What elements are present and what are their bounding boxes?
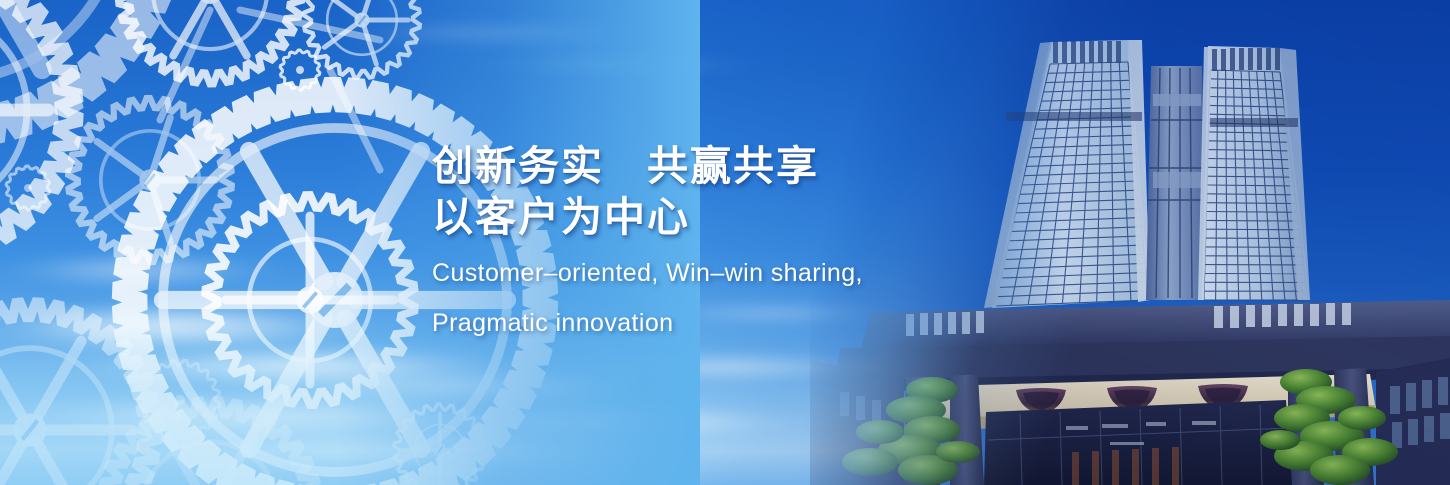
subline-line-1: Customer–oriented, Win–win sharing,	[432, 253, 1052, 293]
headline-line-1: 创新务实 共赢共享	[432, 141, 1052, 192]
subline-line-2: Pragmatic innovation	[432, 303, 1052, 343]
corporate-banner: 创新务实 共赢共享 以客户为中心 Customer–oriented, Win–…	[0, 0, 1450, 485]
banner-copy: 创新务实 共赢共享 以客户为中心 Customer–oriented, Win–…	[432, 141, 1052, 343]
headline-line-2: 以客户为中心	[432, 192, 1052, 243]
